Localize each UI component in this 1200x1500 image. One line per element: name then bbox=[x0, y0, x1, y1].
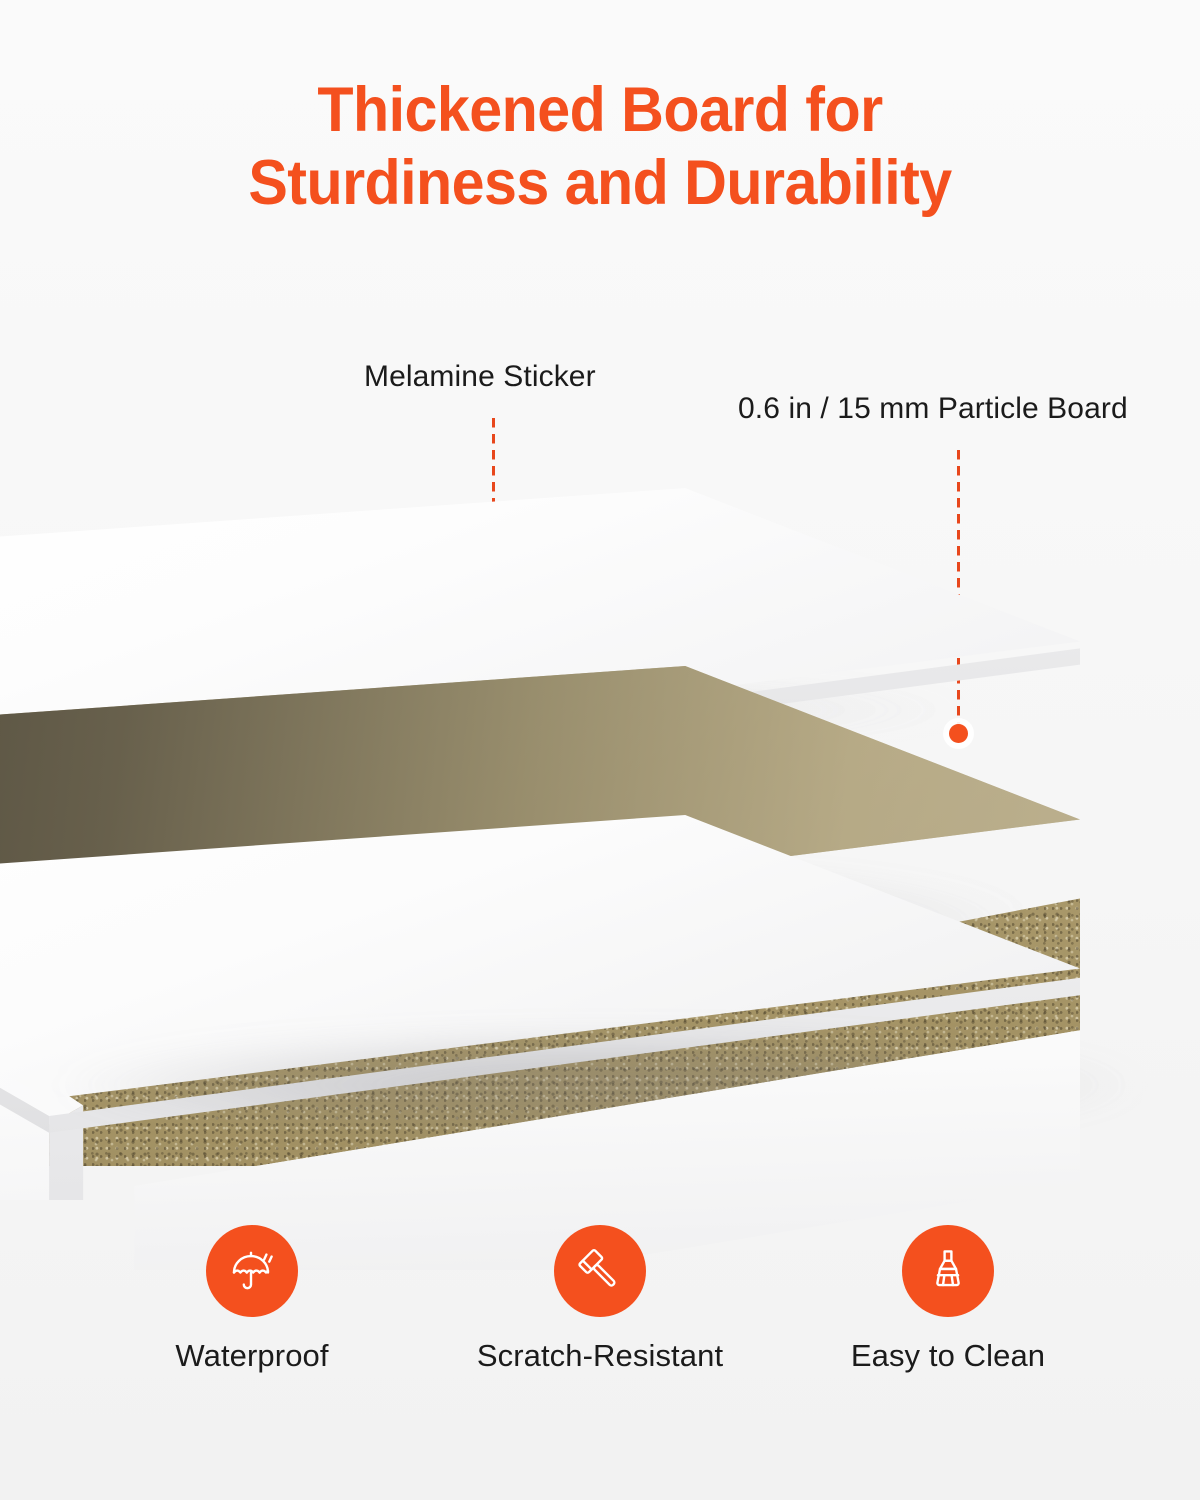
feature-item-easy-to-clean: Easy to Clean bbox=[818, 1225, 1078, 1374]
feature-label-waterproof: Waterproof bbox=[175, 1338, 328, 1374]
hammer-icon bbox=[554, 1225, 646, 1317]
feature-list: Waterproof Scratch-Resistant bbox=[0, 1225, 1200, 1374]
feature-label-easy-to-clean: Easy to Clean bbox=[851, 1338, 1045, 1374]
exploded-board-diagram bbox=[0, 470, 1200, 1170]
feature-item-scratch-resistant: Scratch-Resistant bbox=[470, 1225, 730, 1374]
callout-label-melamine-sticker: Melamine Sticker bbox=[364, 360, 596, 394]
feature-item-waterproof: Waterproof bbox=[122, 1225, 382, 1374]
feature-label-scratch-resistant: Scratch-Resistant bbox=[477, 1338, 723, 1374]
title-line-2: Sturdiness and Durability bbox=[36, 151, 1164, 215]
page-title: Thickened Board for Sturdiness and Durab… bbox=[0, 78, 1200, 216]
infographic-canvas: Thickened Board for Sturdiness and Durab… bbox=[0, 0, 1200, 1500]
broom-icon bbox=[902, 1225, 994, 1317]
umbrella-icon bbox=[206, 1225, 298, 1317]
callout-label-particle-board: 0.6 in / 15 mm Particle Board bbox=[738, 392, 1128, 426]
title-line-1: Thickened Board for bbox=[36, 78, 1164, 142]
